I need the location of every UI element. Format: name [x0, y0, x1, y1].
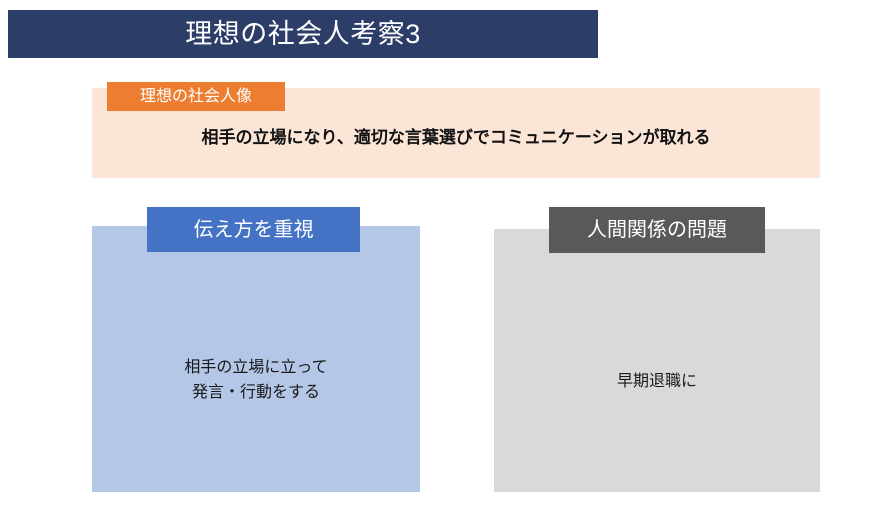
slide-title: 理想の社会人考察3 [185, 21, 421, 48]
card-communication-body: 相手の立場に立って 発言・行動をする [92, 226, 420, 492]
card-communication-body-text: 相手の立場に立って 発言・行動をする [184, 356, 327, 406]
card-communication-header-label: 伝え方を重視 [194, 220, 314, 240]
card-relationship-body: 早期退職に [494, 229, 820, 492]
slide-title-bar: 理想の社会人考察3 [8, 10, 598, 58]
ideal-persona-statement-text: 相手の立場になり、適切な言葉選びでコミュニケーションが取れる [202, 128, 711, 148]
card-relationship-header: 人間関係の問題 [549, 207, 765, 253]
ideal-persona-tag-label: 理想の社会人像 [140, 89, 252, 105]
ideal-persona-tag: 理想の社会人像 [107, 82, 285, 111]
slide-canvas: 理想の社会人考察3 理想の社会人像 相手の立場になり、適切な言葉選びでコミュニケ… [0, 0, 870, 507]
card-communication-header: 伝え方を重視 [147, 207, 360, 252]
card-relationship-header-label: 人間関係の問題 [587, 220, 727, 240]
card-relationship-body-text: 早期退職に [617, 370, 697, 395]
ideal-persona-statement: 相手の立場になり、適切な言葉選びでコミュニケーションが取れる [92, 118, 820, 158]
